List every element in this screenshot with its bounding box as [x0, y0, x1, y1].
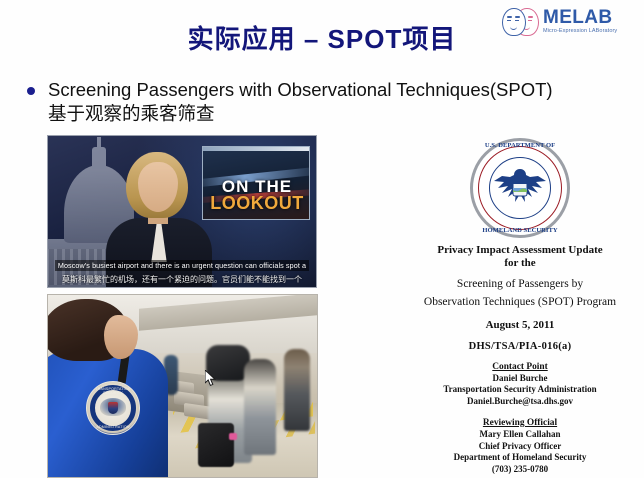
- micro-expression-faces-icon: [498, 6, 540, 36]
- reviewing-official-org: Department of Homeland Security: [396, 452, 644, 464]
- doc-subject-line-2: Observation Techniques (SPOT) Program: [396, 294, 644, 312]
- contact-point-header: Contact Point: [396, 361, 644, 373]
- contact-point-name: Daniel Burche: [396, 373, 644, 385]
- contact-point-org: Transportation Security Administration: [396, 384, 644, 396]
- contact-point-block: Contact Point Daniel Burche Transportati…: [396, 361, 644, 408]
- subtitle-english: Moscow's busiest airport and there is an…: [55, 260, 309, 271]
- reviewing-official-name: Mary Ellen Callahan: [396, 429, 644, 441]
- dhs-eagle-emblem: [488, 164, 552, 212]
- doc-subject-line-1: Screening of Passengers by: [396, 276, 644, 294]
- doc-title-line-1: Privacy Impact Assessment Update: [396, 244, 644, 257]
- reviewing-official-phone: (703) 235-0780: [396, 464, 644, 476]
- seal-bottom-text: HOMELAND SECURITY: [470, 227, 570, 234]
- doc-number: DHS/TSA/PIA-016(a): [396, 341, 644, 352]
- video-subtitles: Moscow's busiest airport and there is an…: [48, 255, 316, 285]
- doc-title-line-2: for the: [396, 257, 644, 270]
- page-title: 实际应用 – SPOT项目: [0, 19, 644, 56]
- news-video-still[interactable]: ON THE LOOKOUT Moscow's busiest airport …: [47, 135, 317, 288]
- tsa-shoulder-patch-icon: TRANSPORTATION SECURITY ADMINISTRATION: [86, 381, 140, 435]
- face-blue-icon: [502, 8, 526, 36]
- subtitle-chinese: 莫斯科最繁忙的机场，还有一个紧迫的问题。官员们能不能找到一个: [48, 274, 316, 285]
- contact-point-email: Daniel.Burche@tsa.dhs.gov: [396, 396, 644, 408]
- background-passenger: [284, 349, 310, 431]
- reviewing-official-header: Reviewing Official: [396, 417, 644, 429]
- bullet-block: Screening Passengers with Observational …: [27, 78, 627, 125]
- doc-date: August 5, 2011: [396, 319, 644, 331]
- dhs-privacy-impact-assessment-document[interactable]: U.S. DEPARTMENT OF HOMELAND SECURITY Pri…: [396, 138, 644, 468]
- patch-bottom-text: ADMINISTRATION: [87, 425, 139, 429]
- rolling-suitcase: [198, 423, 234, 467]
- passenger-in-line: [244, 359, 276, 455]
- patch-top-text: TRANSPORTATION SECURITY: [87, 387, 139, 395]
- on-the-lookout-graphic: ON THE LOOKOUT: [202, 146, 310, 220]
- bullet-dot-icon: [27, 87, 35, 95]
- overlay-line-2: LOOKOUT: [205, 193, 309, 214]
- reviewing-official-title: Chief Privacy Officer: [396, 441, 644, 453]
- reviewing-official-block: Reviewing Official Mary Ellen Callahan C…: [396, 417, 644, 476]
- seal-top-text: U.S. DEPARTMENT OF: [470, 142, 570, 149]
- bullet-text-english: Screening Passengers with Observational …: [48, 78, 553, 102]
- tsa-checkpoint-photo[interactable]: TRANSPORTATION SECURITY ADMINISTRATION: [47, 294, 318, 478]
- dhs-seal-icon: U.S. DEPARTMENT OF HOMELAND SECURITY: [470, 138, 570, 238]
- bullet-text-chinese: 基于观察的乘客筛查: [48, 102, 553, 126]
